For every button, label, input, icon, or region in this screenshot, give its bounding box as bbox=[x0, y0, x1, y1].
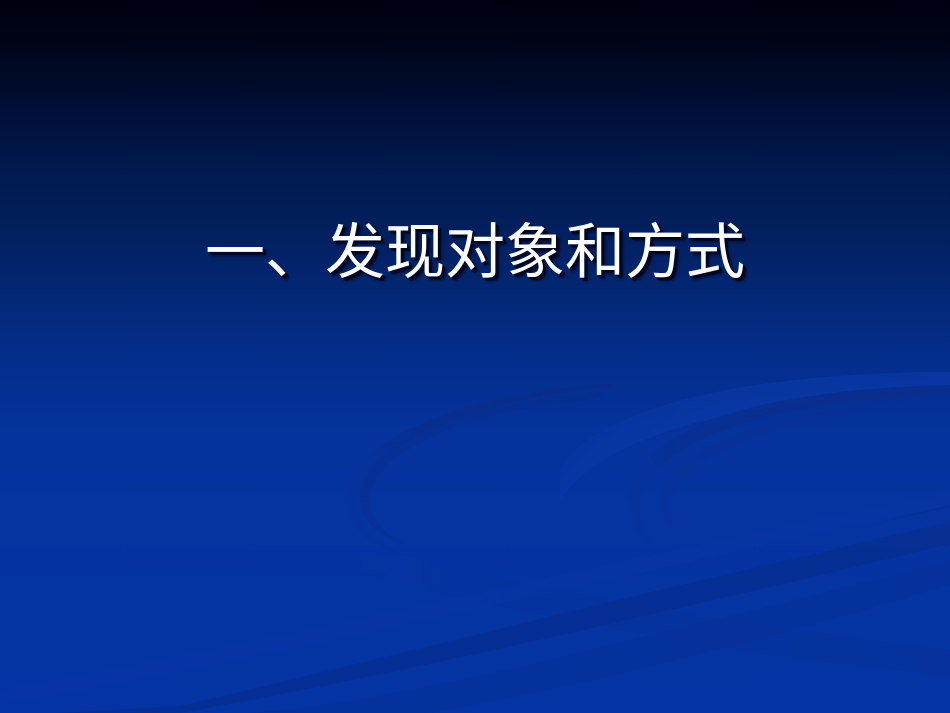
page-title: 一、发现对象和方式 bbox=[205, 222, 745, 285]
slide-title-block: 一、发现对象和方式 bbox=[0, 222, 950, 285]
presentation-slide: 一、发现对象和方式 bbox=[0, 0, 950, 713]
slide-background-gradient bbox=[0, 0, 950, 713]
